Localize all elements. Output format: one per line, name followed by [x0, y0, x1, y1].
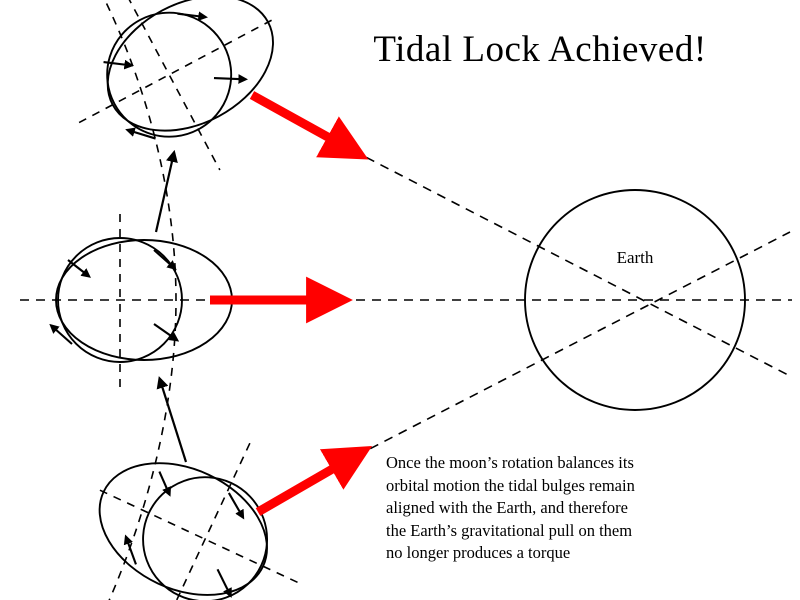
moon-bottom-arrow-lower-right — [211, 569, 236, 592]
moon-bottom-tidal-arrows — [120, 463, 267, 600]
caption-line-2: orbital motion the tidal bulges remain — [386, 475, 716, 498]
moon-top-arrow-lower-right — [214, 67, 242, 91]
earth-label: Earth — [585, 248, 685, 268]
earth-axis-lines — [20, 150, 792, 456]
moon-middle-arrow-lower-right — [154, 324, 174, 338]
caption-line-4: the Earth’s gravitational pull on them — [386, 520, 716, 543]
moon-middle-arrow-upper-right — [154, 250, 172, 266]
red-arrow-top — [252, 95, 344, 146]
moon-bottom — [56, 394, 342, 600]
diagonal-axis-line-ascending — [356, 232, 790, 456]
page-title: Tidal Lock Achieved! — [320, 28, 760, 71]
orbital-motion-arrow-lower — [161, 383, 186, 462]
caption-line-3: aligned with the Earth, and therefore — [386, 497, 716, 520]
moon-top-axis-vertical — [120, 0, 220, 170]
red-arrow-bottom — [258, 460, 348, 512]
moon-bottom-arrow-upper-right — [223, 493, 247, 514]
caption-line-1: Once the moon’s rotation balances its — [386, 452, 716, 475]
moon-bottom-axis-vertical — [161, 443, 250, 600]
caption-text: Once the moon’s rotation balances its or… — [386, 452, 716, 565]
red-pointer-arrows — [210, 95, 348, 512]
diagonal-axis-line-descending — [352, 150, 790, 376]
moon-bottom-axes — [56, 394, 342, 600]
moon-bottom-tidal-bulge — [78, 438, 288, 600]
diagram-slide: Tidal Lock Achieved! Earth Once the moon… — [0, 0, 800, 600]
caption-line-5: no longer produces a torque — [386, 542, 716, 565]
moon-middle-tidal-arrows — [54, 250, 174, 344]
moon-middle — [54, 214, 232, 390]
moon-middle-tidal-bulge — [56, 240, 232, 360]
moon-top-arrow-upper-right — [177, 4, 201, 26]
